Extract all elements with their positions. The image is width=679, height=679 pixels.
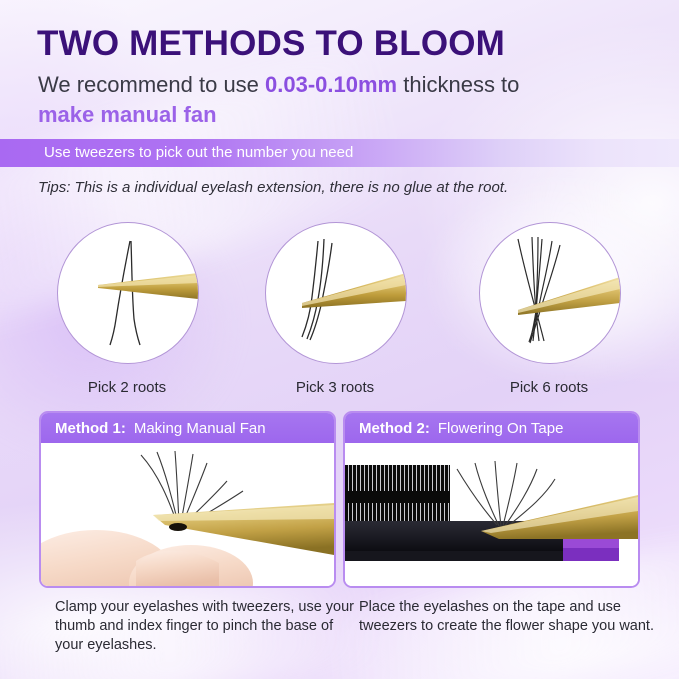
method-panel-1: Method 1: Making Manual Fan bbox=[39, 411, 336, 588]
step-label-3: Pick 6 roots bbox=[469, 379, 629, 396]
step-label-2: Pick 3 roots bbox=[255, 379, 415, 396]
method-2-header: Method 2: Flowering On Tape bbox=[345, 413, 638, 443]
step-circle-3 bbox=[479, 222, 621, 364]
product-infographic: TWO METHODS TO BLOOM We recommend to use… bbox=[0, 0, 679, 679]
subtitle-line-1: We recommend to use 0.03-0.10mm thicknes… bbox=[38, 72, 519, 98]
step-circle-2 bbox=[265, 222, 407, 364]
fingers-pinching-lash-fan-photo bbox=[41, 443, 334, 588]
step-circle-1 bbox=[57, 222, 199, 364]
method-1-photo bbox=[41, 443, 334, 588]
method-2-caption: Place the eyelashes on the tape and use … bbox=[359, 598, 659, 636]
tips-note: Tips: This is a individual eyelash exten… bbox=[38, 179, 508, 196]
method-1-number: Method 1: bbox=[55, 420, 126, 437]
thickness-value: 0.03-0.10mm bbox=[265, 72, 397, 97]
subtitle-prefix: We recommend to use bbox=[38, 72, 265, 97]
instruction-banner-text: Use tweezers to pick out the number you … bbox=[44, 144, 353, 161]
page-title: TWO METHODS TO BLOOM bbox=[37, 24, 505, 64]
tweezers-lashes-icon bbox=[58, 223, 198, 363]
method-1-caption: Clamp your eyelashes with tweezers, use … bbox=[55, 598, 355, 655]
tweezers-lashes-icon bbox=[266, 223, 406, 363]
method-1-name: Making Manual Fan bbox=[134, 420, 266, 437]
subtitle-suffix: thickness to bbox=[397, 72, 519, 97]
method-2-name: Flowering On Tape bbox=[438, 420, 564, 437]
lashes-on-tape-with-tweezers-photo bbox=[345, 443, 638, 588]
tweezers-lashes-icon bbox=[480, 223, 620, 363]
method-panel-2: Method 2: Flowering On Tape bbox=[343, 411, 640, 588]
method-1-header: Method 1: Making Manual Fan bbox=[41, 413, 334, 443]
subtitle-line-2: make manual fan bbox=[38, 102, 217, 128]
method-2-photo bbox=[345, 443, 638, 588]
step-label-1: Pick 2 roots bbox=[47, 379, 207, 396]
method-2-number: Method 2: bbox=[359, 420, 430, 437]
